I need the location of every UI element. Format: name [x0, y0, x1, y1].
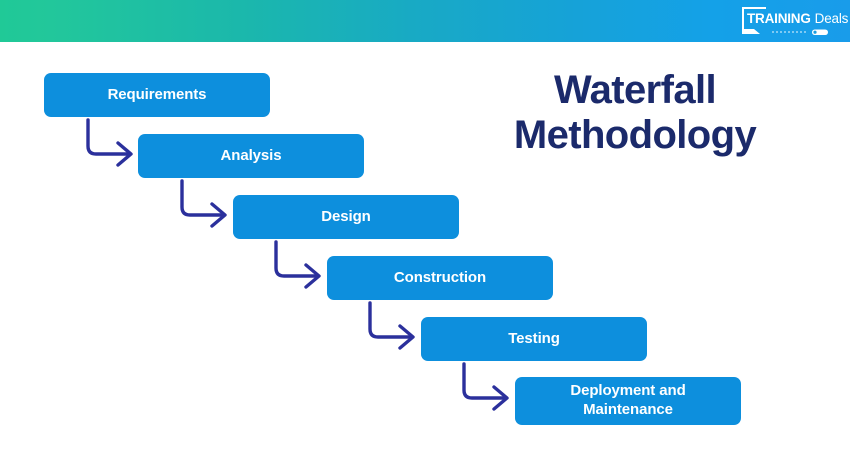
stage-box-2[interactable]: Analysis	[138, 134, 364, 178]
stage-box-6[interactable]: Deployment and Maintenance	[515, 377, 741, 425]
logo-primary-text: TRAINING	[747, 12, 811, 26]
page-title-line-1: Waterfall	[470, 68, 800, 113]
logo-secondary-text: Deals	[815, 12, 849, 26]
stage-label-2: Analysis	[221, 147, 282, 166]
flow-arrow-1	[84, 116, 146, 172]
header-gradient-bar: TRAINING Deals	[0, 0, 850, 42]
stage-box-4[interactable]: Construction	[327, 256, 553, 300]
stage-label-4: Construction	[394, 269, 486, 288]
page-title-line-2: Methodology	[470, 113, 800, 158]
stage-box-5[interactable]: Testing	[421, 317, 647, 361]
stage-box-1[interactable]: Requirements	[44, 73, 270, 117]
training-deals-logo[interactable]: TRAINING Deals	[730, 3, 840, 39]
flow-arrow-4	[366, 299, 428, 355]
page-title: Waterfall Methodology	[470, 68, 800, 158]
stage-box-3[interactable]: Design	[233, 195, 459, 239]
stage-label-5: Testing	[508, 330, 560, 349]
flow-arrow-3	[272, 238, 334, 294]
stage-label-6: Deployment and Maintenance	[570, 382, 685, 420]
stage-label-3: Design	[321, 208, 370, 227]
stage-label-1: Requirements	[108, 86, 207, 105]
flow-arrow-2	[178, 177, 240, 233]
flow-arrow-5	[460, 360, 522, 416]
